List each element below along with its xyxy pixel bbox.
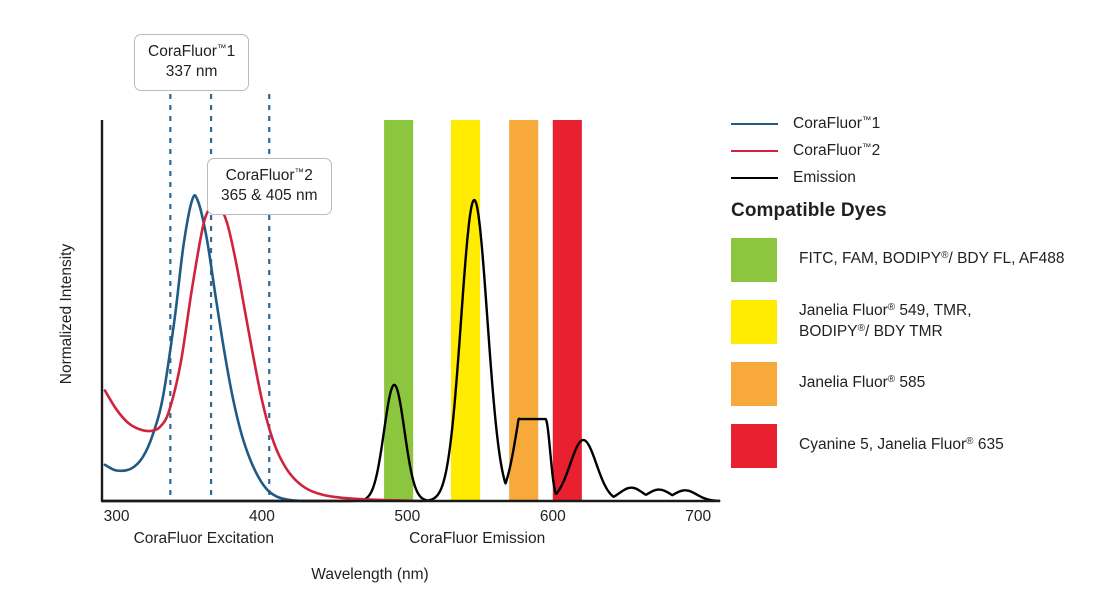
- y-axis-title: Normalized Intensity: [58, 214, 76, 414]
- dye-color-swatch: [731, 238, 777, 282]
- callout-cf2-line2: 365 & 405 nm: [221, 186, 318, 206]
- trademark-symbol: ™: [862, 115, 872, 126]
- callout-corafluor-1: CoraFluor™1 337 nm: [134, 34, 249, 91]
- dye-band-1: [451, 120, 480, 501]
- trademark-symbol: ™: [862, 142, 872, 153]
- series-legend: CoraFluor™1CoraFluor™2Emission: [731, 110, 1101, 191]
- compatible-dyes-list: FITC, FAM, BODIPY®/ BDY FL, AF488Janelia…: [731, 236, 1101, 484]
- dye-label-line1: Janelia Fluor® 549, TMR,: [799, 301, 972, 322]
- legend-item-label: CoraFluor™1: [793, 115, 880, 133]
- compatible-dyes-title: Compatible Dyes: [731, 200, 887, 222]
- dye-item-label: Janelia Fluor® 549, TMR,BODIPY®/ BDY TMR: [799, 301, 972, 343]
- excitation-curve-1: [105, 195, 320, 501]
- x-tick-700: 700: [668, 508, 728, 526]
- region-label-excitation: CoraFluor Excitation: [104, 530, 304, 548]
- legend-line-swatch: [731, 123, 778, 125]
- legend-item-2[interactable]: CoraFluor™2: [731, 137, 1101, 164]
- dye-item-4[interactable]: Cyanine 5, Janelia Fluor® 635: [731, 422, 1101, 469]
- fluorescence-spectra-figure: CoraFluor™1 337 nm CoraFluor™2 365 & 405…: [0, 0, 1110, 612]
- dye-item-3[interactable]: Janelia Fluor® 585: [731, 360, 1101, 407]
- dye-label-line1: FITC, FAM, BODIPY®/ BDY FL, AF488: [799, 249, 1065, 270]
- dye-color-swatch: [731, 300, 777, 344]
- x-tick-600: 600: [523, 508, 583, 526]
- trademark-symbol: ™: [217, 43, 227, 54]
- dye-label-line2: BODIPY®/ BDY TMR: [799, 322, 972, 343]
- dye-item-label: Janelia Fluor® 585: [799, 373, 925, 394]
- dye-item-1[interactable]: FITC, FAM, BODIPY®/ BDY FL, AF488: [731, 236, 1101, 283]
- dye-label-line1: Cyanine 5, Janelia Fluor® 635: [799, 435, 1004, 456]
- dye-band-0: [384, 120, 413, 501]
- legend-item-label: CoraFluor™2: [793, 142, 880, 160]
- x-tick-500: 500: [377, 508, 437, 526]
- legend-item-3[interactable]: Emission: [731, 164, 1101, 191]
- trademark-symbol: ™: [295, 167, 305, 178]
- legend-item-1[interactable]: CoraFluor™1: [731, 110, 1101, 137]
- x-tick-300: 300: [87, 508, 147, 526]
- dye-color-swatch: [731, 424, 777, 468]
- dye-label-line1: Janelia Fluor® 585: [799, 373, 925, 394]
- x-tick-400: 400: [232, 508, 292, 526]
- callout-cf2-line1: CoraFluor™2: [221, 166, 318, 186]
- dye-item-2[interactable]: Janelia Fluor® 549, TMR,BODIPY®/ BDY TMR: [731, 298, 1101, 345]
- excitation-curve-2: [105, 203, 422, 501]
- dye-item-label: Cyanine 5, Janelia Fluor® 635: [799, 435, 1004, 456]
- dye-color-swatch: [731, 362, 777, 406]
- x-axis-title: Wavelength (nm): [0, 566, 740, 584]
- callout-cf1-line1: CoraFluor™1: [148, 42, 235, 62]
- callout-corafluor-2: CoraFluor™2 365 & 405 nm: [207, 158, 332, 215]
- legend-line-swatch: [731, 177, 778, 179]
- region-label-emission: CoraFluor Emission: [377, 530, 577, 548]
- registered-symbol: ®: [858, 323, 865, 334]
- legend-item-label: Emission: [793, 169, 856, 187]
- callout-cf1-line2: 337 nm: [148, 62, 235, 82]
- registered-symbol: ®: [966, 436, 973, 447]
- legend-line-swatch: [731, 150, 778, 152]
- dye-item-label: FITC, FAM, BODIPY®/ BDY FL, AF488: [799, 249, 1065, 270]
